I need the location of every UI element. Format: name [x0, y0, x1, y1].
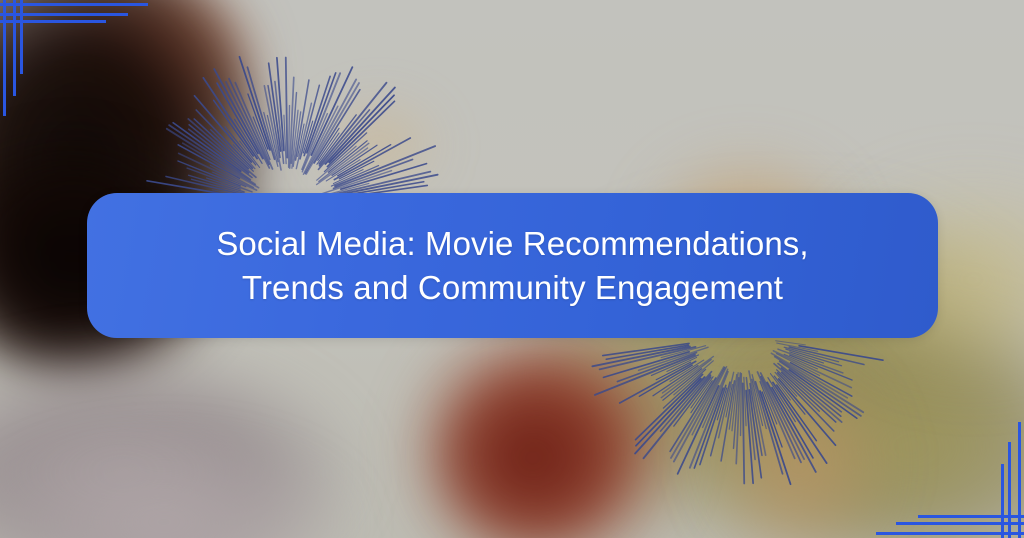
title-line-2: Trends and Community Engagement: [216, 266, 808, 310]
title-line-1: Social Media: Movie Recommendations,: [216, 225, 808, 262]
title-card: Social Media: Movie Recommendations, Tre…: [87, 193, 938, 338]
background-head-front-hair: [410, 344, 656, 538]
title-card-canvas: Social Media: Movie Recommendations, Tre…: [0, 0, 1024, 538]
background-shoulder-2: [0, 420, 389, 538]
page-title: Social Media: Movie Recommendations, Tre…: [174, 222, 850, 310]
